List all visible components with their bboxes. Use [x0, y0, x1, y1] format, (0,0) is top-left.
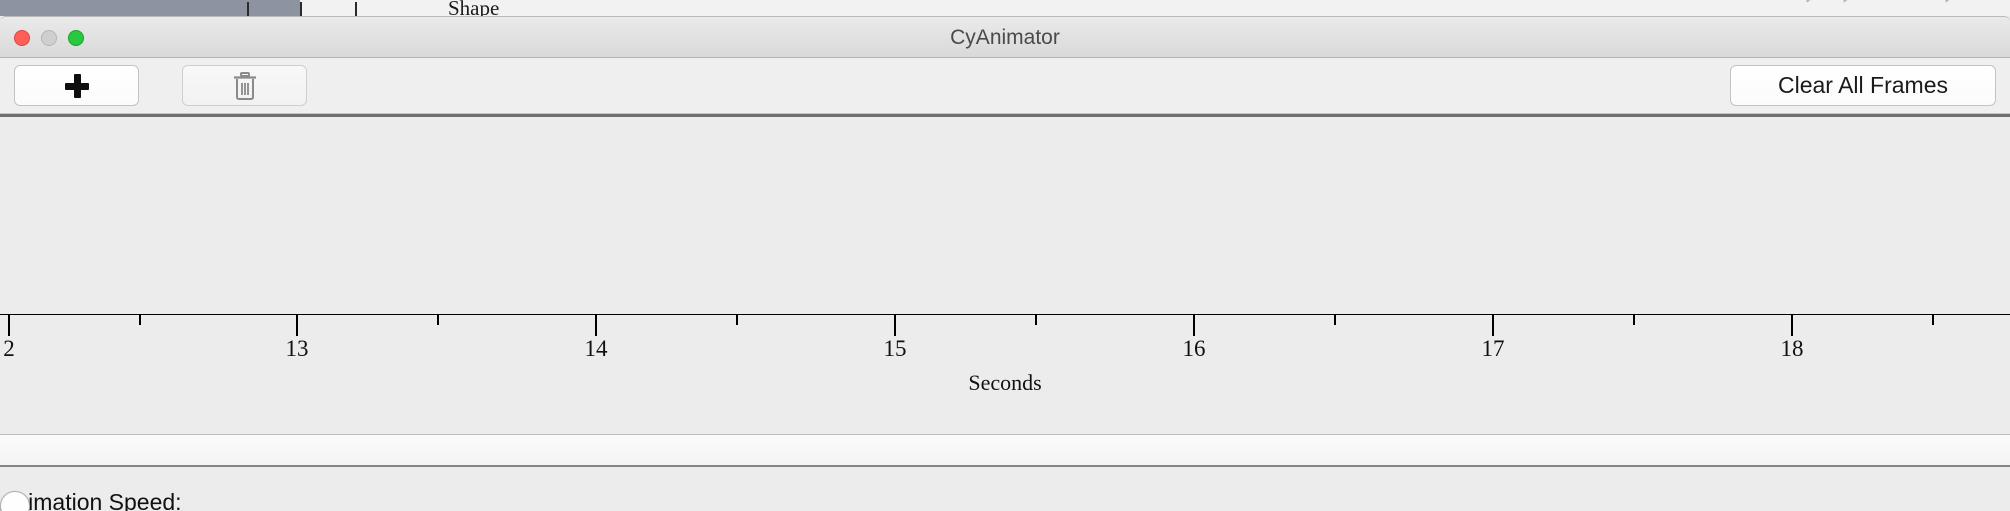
frame-toolbar: Clear All Frames: [0, 58, 2010, 114]
axis-tick-label: 14: [585, 336, 608, 362]
add-frame-button[interactable]: [14, 65, 139, 106]
axis-tick-label: 18: [1781, 336, 1804, 362]
background-cell: [500, 0, 681, 16]
clear-all-frames-button[interactable]: Clear All Frames: [1730, 65, 1996, 106]
axis-tick-major: [595, 314, 597, 336]
window-title: CyAnimator: [0, 26, 2010, 50]
axis-tick-label: 13: [286, 336, 309, 362]
axis-tick-minor: [736, 314, 738, 325]
timeline-axis: 2131415161718 Seconds: [0, 314, 2010, 434]
cyanimator-screenshot: Shape CyAnimator: [0, 0, 2010, 510]
axis-tick-major: [1492, 314, 1494, 336]
frame-thumbnails-layer: [0, 114, 2010, 314]
background-cell: [680, 0, 931, 16]
axis-title: Seconds: [0, 370, 2010, 396]
background-cell: [1490, 0, 2010, 16]
axis-tick-minor: [139, 314, 141, 325]
background-dark-panel: [0, 0, 300, 16]
axis-tick-major: [894, 314, 896, 336]
clear-all-frames-label: Clear All Frames: [1778, 72, 1948, 99]
cyanimator-window: CyAnimator Clear All Frames: [0, 16, 2010, 511]
axis-tick-minor: [1633, 314, 1635, 325]
playback-control-bar: Animation Speed:: [0, 467, 2010, 511]
axis-tick-major: [296, 314, 298, 336]
background-cell: [930, 0, 1191, 16]
axis-line: [0, 314, 2010, 315]
axis-tick-major: [8, 314, 10, 336]
background-cell: [1190, 0, 1491, 16]
delete-frame-button[interactable]: [182, 65, 307, 106]
axis-tick-minor: [1334, 314, 1336, 325]
background-cell: [300, 0, 361, 16]
background-window-strip: Shape: [0, 0, 2010, 16]
background-window-label: Shape: [448, 0, 499, 16]
trash-icon: [232, 71, 258, 101]
timeline-horizontal-scrollbar[interactable]: [0, 435, 2010, 467]
axis-tick-minor: [437, 314, 439, 325]
axis-tick-minor: [1932, 314, 1934, 325]
timeline-panel[interactable]: 2131415161718 Seconds: [0, 114, 2010, 435]
axis-tick-major: [1791, 314, 1793, 336]
window-title-bar: CyAnimator: [0, 17, 2010, 58]
axis-tick-label: 2: [3, 336, 15, 362]
axis-tick-label: 17: [1482, 336, 1505, 362]
axis-tick-label: 15: [884, 336, 907, 362]
axis-tick-major: [1193, 314, 1195, 336]
plus-icon: [65, 74, 89, 98]
axis-tick-minor: [1035, 314, 1037, 325]
axis-tick-label: 16: [1183, 336, 1206, 362]
